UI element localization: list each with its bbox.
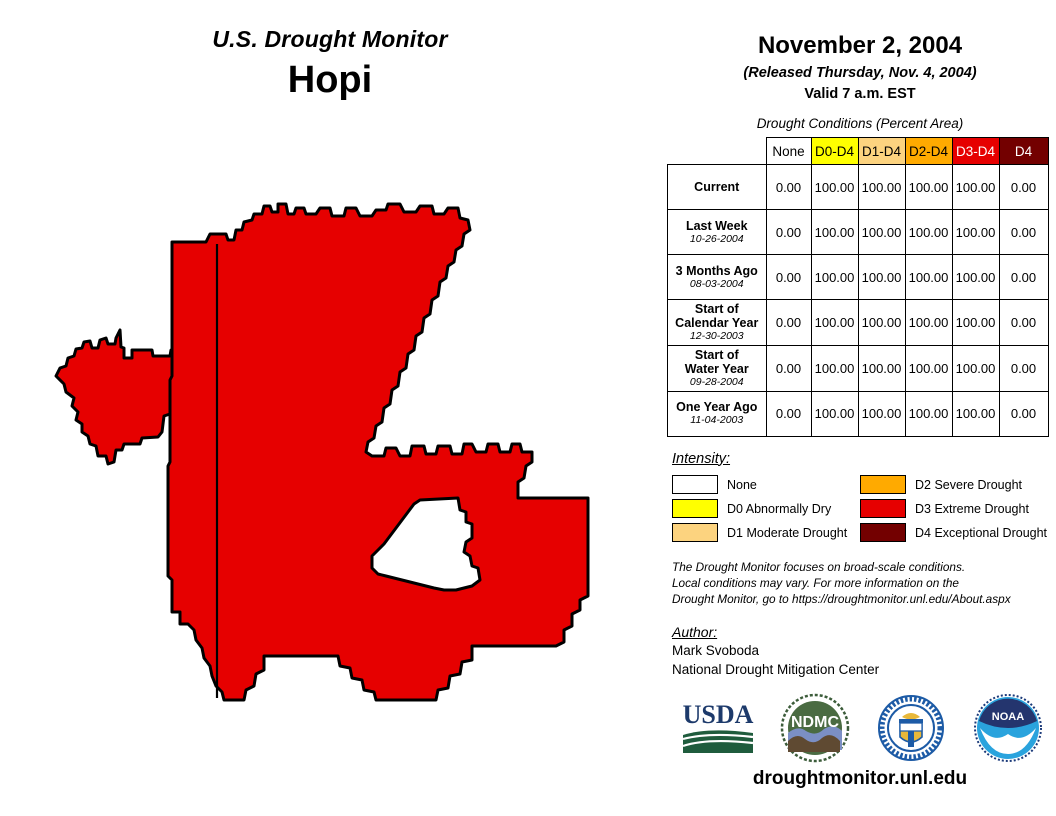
legend-item-d2: D2 Severe Drought (860, 475, 1048, 494)
row-label-date: 08-03-2004 (672, 279, 762, 291)
col-header-none: None (766, 138, 811, 165)
valid-time: Valid 7 a.m. EST (664, 86, 1056, 102)
table-cell-none: 0.00 (766, 300, 811, 346)
table-cell-none: 0.00 (766, 391, 811, 436)
legend-swatch-d4 (860, 523, 906, 542)
table-cell-d2-d4: 100.00 (905, 255, 952, 300)
table-cell-d3-d4: 100.00 (952, 165, 999, 210)
ndmc-logo: NDMC (776, 691, 854, 765)
table-cell-d1-d4: 100.00 (858, 255, 905, 300)
drought-conditions-table: None D0-D4 D1-D4 D2-D4 D3-D4 D4 Current0… (667, 137, 1049, 437)
table-cell-d4: 0.00 (999, 255, 1048, 300)
row-label-name: Last Week (672, 219, 762, 233)
legend-swatch-none (672, 475, 718, 494)
row-label-date: 11-04-2003 (672, 415, 762, 427)
row-label-date: 10-26-2004 (672, 234, 762, 246)
noaa-logo: NOAA (969, 691, 1047, 765)
legend-label-d4: D4 Exceptional Drought (915, 526, 1047, 540)
legend-swatch-d3 (860, 499, 906, 518)
table-cell-d0-d4: 100.00 (811, 391, 858, 436)
table-cell-d2-d4: 100.00 (905, 210, 952, 255)
legend-item-d3: D3 Extreme Drought (860, 499, 1048, 518)
page-title: U.S. Drought Monitor (0, 26, 660, 53)
table-row: Start ofWater Year09-28-20040.00100.0010… (668, 345, 1049, 391)
row-label-date: 12-30-2003 (672, 331, 762, 343)
table-caption: Drought Conditions (Percent Area) (664, 116, 1056, 131)
author-organization: National Drought Mitigation Center (672, 661, 1056, 679)
table-cell-d3-d4: 100.00 (952, 391, 999, 436)
table-row: One Year Ago11-04-20030.00100.00100.0010… (668, 391, 1049, 436)
legend-label-d2: D2 Severe Drought (915, 478, 1022, 492)
table-cell-d0-d4: 100.00 (811, 165, 858, 210)
date-block: November 2, 2004 (Released Thursday, Nov… (664, 0, 1056, 102)
col-header-d4: D4 (999, 138, 1048, 165)
legend-label-d1: D1 Moderate Drought (727, 526, 847, 540)
region-title: Hopi (0, 59, 660, 102)
table-cell-none: 0.00 (766, 165, 811, 210)
site-url[interactable]: droughtmonitor.unl.edu (664, 768, 1056, 790)
info-panel: November 2, 2004 (Released Thursday, Nov… (664, 0, 1056, 816)
usda-logo: USDA (679, 691, 757, 765)
table-cell-d4: 0.00 (999, 391, 1048, 436)
legend-item-none: None (672, 475, 860, 494)
row-label-name: Start of (672, 302, 762, 316)
col-header-d3-d4: D3-D4 (952, 138, 999, 165)
release-date: (Released Thursday, Nov. 4, 2004) (664, 65, 1056, 81)
row-label: One Year Ago11-04-2003 (668, 391, 767, 436)
legend-swatch-d1 (672, 523, 718, 542)
table-cell-d3-d4: 100.00 (952, 255, 999, 300)
table-cell-d0-d4: 100.00 (811, 300, 858, 346)
map-region-west (56, 330, 188, 464)
legend-swatch-d0 (672, 499, 718, 518)
report-date: November 2, 2004 (664, 32, 1056, 60)
svg-text:NDMC: NDMC (791, 714, 839, 731)
row-label-date: 09-28-2004 (672, 377, 762, 389)
usdc-seal-logo (872, 691, 950, 765)
table-cell-d2-d4: 100.00 (905, 165, 952, 210)
row-label: Start ofCalendar Year12-30-2003 (668, 300, 767, 346)
disclaimer: The Drought Monitor focuses on broad-sca… (672, 559, 1056, 608)
legend-item-d1: D1 Moderate Drought (672, 523, 860, 542)
table-cell-d1-d4: 100.00 (858, 210, 905, 255)
legend-item-d0: D0 Abnormally Dry (672, 499, 860, 518)
row-label-name: Current (672, 180, 762, 194)
row-label-name: Calendar Year (672, 316, 762, 330)
row-label: 3 Months Ago08-03-2004 (668, 255, 767, 300)
table-cell-d0-d4: 100.00 (811, 255, 858, 300)
intensity-heading: Intensity: (672, 451, 1056, 467)
drought-map (20, 200, 660, 720)
table-cell-d4: 0.00 (999, 165, 1048, 210)
legend-label-d0: D0 Abnormally Dry (727, 502, 831, 516)
table-row: Current0.00100.00100.00100.00100.000.00 (668, 165, 1049, 210)
table-cell-d4: 0.00 (999, 345, 1048, 391)
table-row: Start ofCalendar Year12-30-20030.00100.0… (668, 300, 1049, 346)
disclaimer-line-2: Local conditions may vary. For more info… (672, 575, 1056, 591)
svg-text:USDA: USDA (683, 700, 754, 729)
disclaimer-line-3: Drought Monitor, go to https://droughtmo… (672, 591, 1056, 607)
row-label-name: Water Year (672, 362, 762, 376)
table-cell-d3-d4: 100.00 (952, 300, 999, 346)
table-cell-none: 0.00 (766, 345, 811, 391)
legend-label-none: None (727, 478, 757, 492)
row-label: Current (668, 165, 767, 210)
table-cell-none: 0.00 (766, 255, 811, 300)
table-row: 3 Months Ago08-03-20040.00100.00100.0010… (668, 255, 1049, 300)
legend-row: D1 Moderate DroughtD4 Exceptional Drough… (672, 521, 1050, 545)
svg-text:NOAA: NOAA (992, 711, 1024, 723)
table-cell-d0-d4: 100.00 (811, 210, 858, 255)
title-block: U.S. Drought Monitor Hopi (0, 26, 660, 102)
col-header-d2-d4: D2-D4 (905, 138, 952, 165)
table-cell-d0-d4: 100.00 (811, 345, 858, 391)
author-name: Mark Svoboda (672, 642, 1056, 660)
author-heading: Author: (672, 624, 1056, 640)
row-label: Last Week10-26-2004 (668, 210, 767, 255)
logo-row: USDA NDMC (670, 688, 1056, 768)
intensity-legend: NoneD2 Severe DroughtD0 Abnormally DryD3… (672, 473, 1050, 545)
row-label-name: One Year Ago (672, 400, 762, 414)
table-cell-d4: 0.00 (999, 300, 1048, 346)
table-body: Current0.00100.00100.00100.00100.000.00L… (668, 165, 1049, 437)
table-header-row: None D0-D4 D1-D4 D2-D4 D3-D4 D4 (668, 138, 1049, 165)
table-cell-d3-d4: 100.00 (952, 210, 999, 255)
legend-item-d4: D4 Exceptional Drought (860, 523, 1048, 542)
legend-row: D0 Abnormally DryD3 Extreme Drought (672, 497, 1050, 521)
table-cell-d1-d4: 100.00 (858, 300, 905, 346)
table-cell-none: 0.00 (766, 210, 811, 255)
map-svg (20, 200, 660, 720)
table-cell-d1-d4: 100.00 (858, 165, 905, 210)
table-cell-d1-d4: 100.00 (858, 345, 905, 391)
map-region-main (168, 204, 588, 700)
legend-swatch-d2 (860, 475, 906, 494)
table-header-blank (668, 138, 767, 165)
table-cell-d1-d4: 100.00 (858, 391, 905, 436)
row-label-name: Start of (672, 348, 762, 362)
table-row: Last Week10-26-20040.00100.00100.00100.0… (668, 210, 1049, 255)
table-cell-d2-d4: 100.00 (905, 391, 952, 436)
table-cell-d4: 0.00 (999, 210, 1048, 255)
col-header-d1-d4: D1-D4 (858, 138, 905, 165)
row-label: Start ofWater Year09-28-2004 (668, 345, 767, 391)
disclaimer-line-1: The Drought Monitor focuses on broad-sca… (672, 559, 1056, 575)
table-cell-d2-d4: 100.00 (905, 345, 952, 391)
table-cell-d2-d4: 100.00 (905, 300, 952, 346)
legend-label-d3: D3 Extreme Drought (915, 502, 1029, 516)
legend-row: NoneD2 Severe Drought (672, 473, 1050, 497)
row-label-name: 3 Months Ago (672, 264, 762, 278)
col-header-d0-d4: D0-D4 (811, 138, 858, 165)
table-cell-d3-d4: 100.00 (952, 345, 999, 391)
